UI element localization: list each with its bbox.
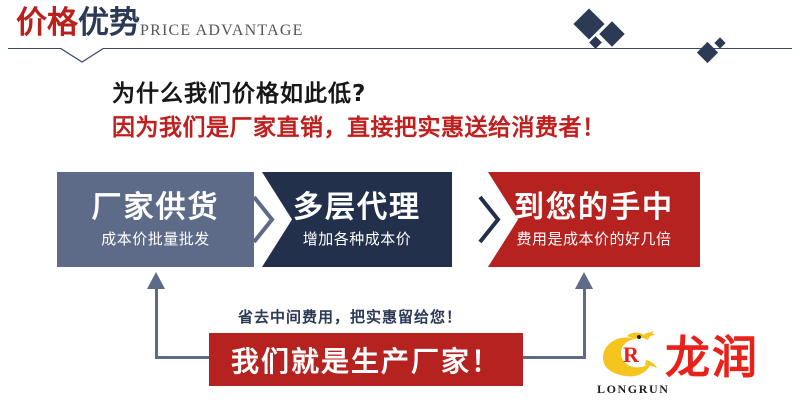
bracket-right-line — [583, 288, 586, 358]
factory-banner-text: 我们就是生产厂家！ — [231, 340, 501, 380]
flow-step-1-subtitle: 成本价批量批发 — [101, 229, 210, 249]
dragon-mark-icon: R — [597, 330, 659, 382]
chevron-2-icon — [476, 172, 518, 267]
factory-banner: 我们就是生产厂家！ — [209, 333, 523, 386]
logo-mark-letter: R — [623, 342, 640, 367]
page-title-navy: 优势 — [78, 5, 140, 41]
flow-step-customer: 到您的手中 费用是成本价的好几倍 — [488, 172, 700, 267]
flow-step-2-subtitle: 增加各种成本价 — [303, 229, 412, 249]
flow-step-3-title: 到您的手中 — [514, 191, 674, 225]
page-subtitle: PRICE ADVANTAGE — [140, 22, 304, 40]
page-title: 价格优势 — [16, 6, 140, 40]
header-divider — [8, 48, 792, 49]
logo-en-text: LONGRUN — [597, 382, 670, 397]
save-note: 省去中间费用，把实惠留给您！ — [238, 306, 462, 327]
bracket-left-arrow-icon — [147, 272, 165, 289]
company-logo: R LONGRUN 龙润 — [595, 330, 795, 410]
price-advantage-banner: 价格优势 PRICE ADVANTAGE 为什么我们价格如此低? 因为我们是厂家… — [0, 0, 800, 419]
bracket-left-line — [155, 288, 158, 358]
flow-step-2-title: 多层代理 — [293, 191, 421, 225]
chevron-1-icon — [250, 172, 292, 267]
headline-answer: 因为我们是厂家直销，直接把实惠送给消费者！ — [112, 108, 606, 142]
diamond-right-large-icon — [697, 42, 718, 63]
header-notch-chevron-icon — [60, 48, 104, 63]
bracket-right-arrow-icon — [575, 272, 593, 289]
headline-question: 为什么我们价格如此低? — [112, 74, 366, 108]
flow-step-1-title: 厂家供货 — [92, 191, 220, 225]
page-title-red: 价格 — [16, 5, 78, 41]
flow-step-3-subtitle: 费用是成本价的好几倍 — [516, 229, 671, 249]
diamond-small-icon — [589, 36, 602, 49]
diamond-right-small-icon — [714, 37, 725, 48]
logo-cn-text: 龙润 — [665, 332, 759, 384]
flow-step-manufacturer: 厂家供货 成本价批量批发 — [57, 172, 254, 267]
